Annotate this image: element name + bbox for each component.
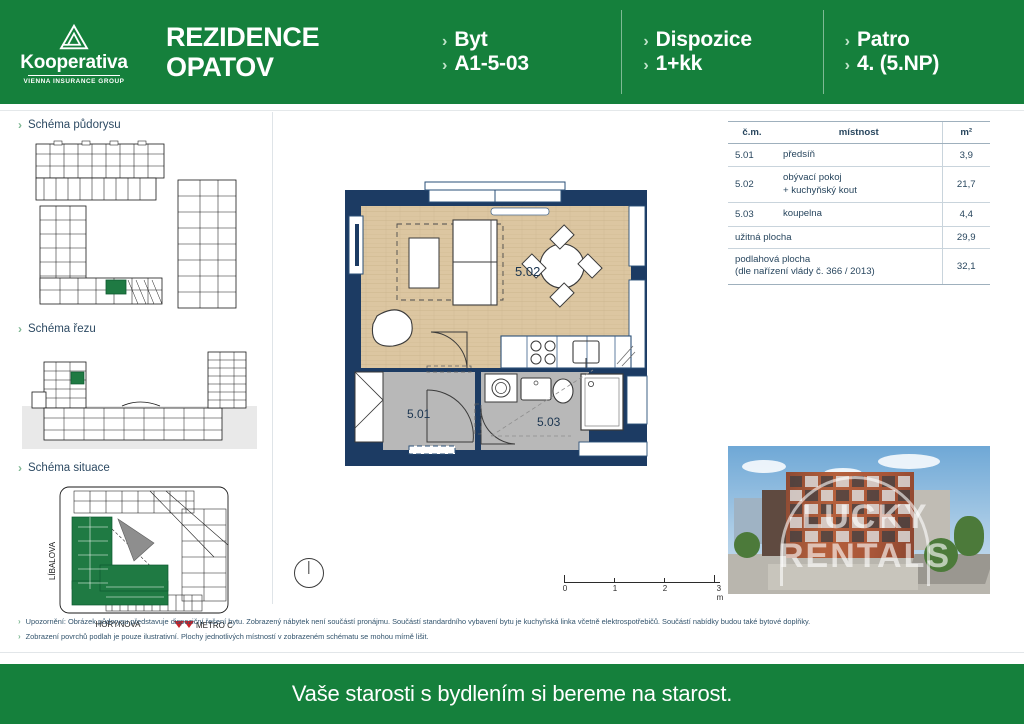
row-number: 5.03 [728, 203, 776, 226]
kitchen-counter [501, 336, 635, 368]
coffee-table [409, 238, 439, 288]
scale-bar-line [564, 573, 720, 583]
floorplan-schema [30, 140, 245, 310]
summary-label: podlahová plocha (dle nařízení vlády č. … [728, 248, 942, 284]
project-title-line1: REZIDENCE [166, 22, 420, 52]
table-row: 5.03 koupelna 4,4 [728, 203, 990, 226]
sofa-bed [453, 220, 497, 305]
header-field-byt: › Byt › A1-5-03 [420, 0, 621, 104]
sidebar-section-floorplan-label: Schéma půdorysu [28, 119, 121, 131]
room-label-501: 5.01 [407, 407, 431, 421]
table-row: 5.02 obývací pokoj + kuchyňský kout 21,7 [728, 167, 990, 203]
situation-schema-svg: LÍBALOVA HORYNOVA METRO C [46, 483, 256, 633]
chevron-right-icon: › [643, 57, 648, 75]
section-schema [22, 344, 257, 449]
table-row: 5.01 předsíň 3,9 [728, 144, 990, 167]
header-bottom-rule [0, 110, 1024, 111]
chevron-right-icon: › [18, 322, 22, 336]
tree-shape [734, 532, 760, 558]
scale-bar-labels: 0 1 2 3 m [564, 583, 720, 595]
chevron-right-icon: › [18, 616, 21, 629]
disclaimer-notes: › Upozornění: Obrázek půdorysu představu… [18, 616, 1008, 646]
floorplan-schema-svg [30, 140, 245, 310]
footer-rule [0, 652, 1024, 653]
header-field-byt-value: A1-5-03 [454, 52, 528, 76]
brand-logo: Kooperativa VIENNA INSURANCE GROUP [0, 0, 148, 104]
room-label-502: 5.02 [515, 264, 540, 279]
apartment-floorplan-svg: 5.02 5.01 5.03 [341, 180, 651, 470]
row-area: 4,4 [942, 203, 990, 226]
brand-subtitle: VIENNA INSURANCE GROUP [24, 78, 125, 85]
areas-table: č.m. místnost m² 5.01 předsíň 3,9 5.02 o… [728, 121, 990, 285]
sidebar-section-situation-label: Schéma situace [28, 462, 110, 474]
row-room: obývací pokoj + kuchyňský kout [776, 167, 942, 203]
row-room: koupelna [776, 203, 942, 226]
header-field-dispozice: › Dispozice › 1+kk [621, 0, 822, 104]
chevron-right-icon: › [845, 33, 850, 51]
areas-header-area: m² [942, 122, 990, 144]
situation-schema: LÍBALOVA HORYNOVA METRO C [46, 483, 256, 633]
brand-name: Kooperativa [20, 53, 128, 72]
brand-divider [28, 75, 120, 76]
header-field-patro: › Patro › 4. (5.NP) [823, 0, 1024, 104]
row-number: 5.02 [728, 167, 776, 203]
triangle-logo-icon [59, 24, 89, 50]
header-field-patro-value: 4. (5.NP) [857, 52, 939, 76]
summary-label: užitná plocha [728, 226, 942, 248]
footer-slogan: Vaše starosti s bydlením si bereme na st… [292, 681, 732, 707]
apartment-floorplan: 5.02 5.01 5.03 [341, 180, 651, 470]
sidebar-section-floorplan-title: › Schéma půdorysu [18, 118, 258, 132]
areas-header-number: č.m. [728, 122, 776, 144]
sidebar-section-section-title: › Schéma řezu [18, 322, 258, 336]
sidebar: › Schéma půdorysu [18, 118, 258, 633]
north-compass-icon [294, 558, 324, 588]
header-field-dispozice-label: Dispozice [656, 28, 752, 52]
project-title: REZIDENCE OPATOV [148, 0, 420, 104]
chevron-right-icon: › [442, 33, 447, 51]
footer-banner: Vaše starosti s bydlením si bereme na st… [0, 664, 1024, 724]
scale-bar: 0 1 2 3 m [564, 573, 720, 595]
room-label-503: 5.03 [537, 415, 561, 429]
floorplan-datasheet: Kooperativa VIENNA INSURANCE GROUP REZID… [0, 0, 1024, 724]
highlighted-unit-section [71, 372, 84, 384]
areas-table-wrapper: č.m. místnost m² 5.01 předsíň 3,9 5.02 o… [728, 121, 990, 285]
tree-shape [954, 516, 984, 556]
scale-tick-0: 0 [563, 584, 567, 593]
areas-header-room: místnost [776, 122, 942, 144]
section-schema-svg [22, 344, 257, 449]
chevron-right-icon: › [845, 57, 850, 75]
main-floorplan-area: 5.02 5.01 5.03 0 1 2 3 m [286, 118, 716, 604]
row-room: předsíň [776, 144, 942, 167]
building-photo: LUCKY RENTALS [728, 446, 990, 594]
header-field-patro-label: Patro [857, 28, 910, 52]
chevron-right-icon: › [18, 118, 22, 132]
project-title-line2: OPATOV [166, 52, 420, 82]
header-field-byt-label: Byt [454, 28, 487, 52]
wardrobe [355, 372, 383, 442]
scale-tick-3: 3 m [717, 584, 724, 602]
scale-tick-1: 1 [613, 584, 617, 593]
highlighted-unit [106, 280, 126, 294]
note-item: › Zobrazení povrchů podlah je pouze ilus… [18, 631, 1008, 644]
row-area: 21,7 [942, 167, 990, 203]
header-field-dispozice-value: 1+kk [656, 52, 703, 76]
row-area: 3,9 [942, 144, 990, 167]
chevron-right-icon: › [442, 57, 447, 75]
note-text: Upozornění: Obrázek půdorysu představuje… [26, 616, 811, 627]
row-number: 5.01 [728, 144, 776, 167]
column-divider [272, 112, 273, 604]
sidebar-section-section-label: Schéma řezu [28, 323, 96, 335]
situation-street-left: LÍBALOVA [48, 541, 57, 580]
cloud-shape [742, 460, 786, 473]
summary-area: 32,1 [942, 248, 990, 284]
scale-tick-2: 2 [663, 584, 667, 593]
chevron-right-icon: › [643, 33, 648, 51]
table-row-floor-area: podlahová plocha (dle nařízení vlády č. … [728, 248, 990, 284]
cloud-shape [878, 454, 940, 469]
bottom-niche [579, 442, 647, 456]
table-row-usable-area: užitná plocha 29,9 [728, 226, 990, 248]
left-window [349, 216, 363, 274]
entrance-door [409, 446, 455, 454]
armchair [372, 310, 412, 346]
note-item: › Upozornění: Obrázek půdorysu představu… [18, 616, 1008, 629]
areas-table-header-row: č.m. místnost m² [728, 122, 990, 144]
chevron-right-icon: › [18, 461, 22, 475]
chevron-right-icon: › [18, 631, 21, 644]
right-niche [627, 376, 647, 424]
sidebar-section-situation-title: › Schéma situace [18, 461, 258, 475]
page-header: Kooperativa VIENNA INSURANCE GROUP REZID… [0, 0, 1024, 104]
summary-area: 29,9 [942, 226, 990, 248]
note-text: Zobrazení povrchů podlah je pouze ilustr… [26, 631, 429, 642]
